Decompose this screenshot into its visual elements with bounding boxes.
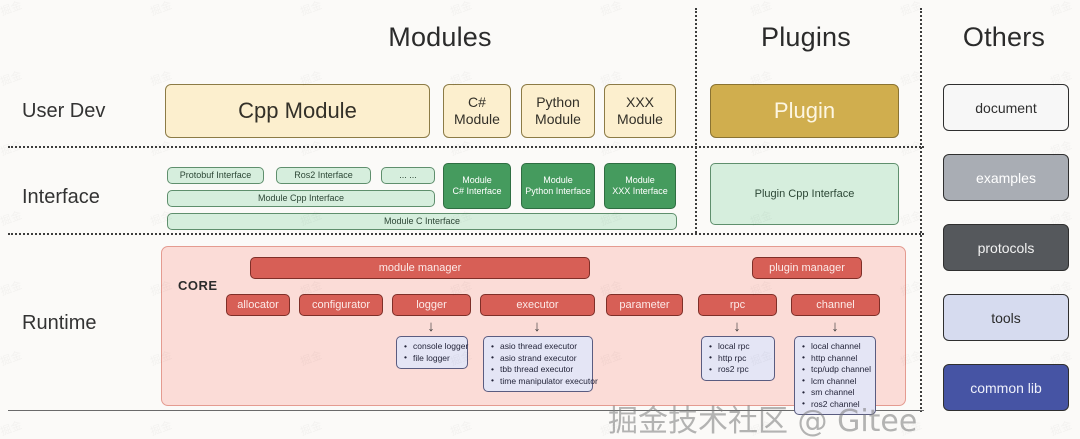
watermark-tile: 掘金 bbox=[0, 0, 24, 19]
watermark-tile: 掘金 bbox=[0, 137, 24, 160]
watermark-tile: 掘金 bbox=[148, 417, 174, 439]
box-parameter: parameter bbox=[606, 294, 683, 316]
detail-list-rpc: local rpchttp rpcros2 rpc bbox=[701, 336, 775, 381]
detail-list-item: tcp/udp channel bbox=[811, 364, 869, 376]
watermark-tile: 掘金 bbox=[448, 0, 474, 19]
detail-list-item: tbb thread executor bbox=[500, 364, 586, 376]
box-document: document bbox=[943, 84, 1069, 131]
detail-list-item: asio strand executor bbox=[500, 353, 586, 365]
box-module-manager: module manager bbox=[250, 257, 590, 279]
watermark-tile: 掘金 bbox=[448, 417, 474, 439]
watermark-tile: 掘金 bbox=[298, 137, 324, 160]
arrow-down-icon-rpc: ↓ bbox=[730, 318, 744, 336]
box-ros2-interface: Ros2 Interface bbox=[276, 167, 371, 184]
detail-list-channel: local channelhttp channeltcp/udp channel… bbox=[794, 336, 876, 415]
watermark-tile: 掘金 bbox=[148, 0, 174, 19]
detail-list-item: http channel bbox=[811, 353, 869, 365]
watermark-tile: 掘金 bbox=[0, 277, 24, 300]
row-label-interface: Interface bbox=[22, 186, 100, 209]
box-rpc: rpc bbox=[698, 294, 777, 316]
watermark-tile: 掘金 bbox=[0, 207, 24, 230]
watermark-tile: 掘金 bbox=[1048, 417, 1074, 439]
box-module-python-interface: Module Python Interface bbox=[521, 163, 595, 209]
detail-list-logger: console loggerfile logger bbox=[396, 336, 468, 369]
box-module-c-interface: Module C Interface bbox=[167, 213, 677, 230]
detail-list-item: local rpc bbox=[718, 341, 768, 353]
detail-list-item: lcm channel bbox=[811, 376, 869, 388]
core-label: CORE bbox=[178, 278, 218, 293]
detail-list-item: ros2 channel bbox=[811, 399, 869, 411]
box-python-module: Python Module bbox=[521, 84, 595, 138]
watermark-tile: 掘金 bbox=[898, 417, 924, 439]
watermark-tile: 掘金 bbox=[598, 137, 624, 160]
detail-list-executor: asio thread executorasio strand executor… bbox=[483, 336, 593, 392]
detail-list-item: local channel bbox=[811, 341, 869, 353]
box-common-lib: common lib bbox=[943, 364, 1069, 411]
watermark-tile: 掘金 bbox=[148, 137, 174, 160]
detail-list-item: sm channel bbox=[811, 387, 869, 399]
arrow-down-icon-channel: ↓ bbox=[828, 318, 842, 336]
architecture-diagram: Modules Plugins Others User Dev Interfac… bbox=[0, 0, 1080, 439]
row-label-runtime: Runtime bbox=[22, 312, 96, 335]
detail-list-item: console logger bbox=[413, 341, 461, 353]
detail-list-item: http rpc bbox=[718, 353, 768, 365]
detail-list-item: file logger bbox=[413, 353, 461, 365]
box-plugin-manager: plugin manager bbox=[752, 257, 862, 279]
box-plugin: Plugin bbox=[710, 84, 899, 138]
watermark-tile: 掘金 bbox=[748, 137, 774, 160]
row-label-user-dev: User Dev bbox=[22, 100, 105, 123]
watermark-tile: 掘金 bbox=[298, 417, 324, 439]
box-module-xxx-interface: Module XXX Interface bbox=[604, 163, 676, 209]
divider-plugins-others bbox=[920, 8, 922, 412]
column-title-plugins: Plugins bbox=[700, 22, 912, 53]
box-protocols: protocols bbox=[943, 224, 1069, 271]
box-csharp-module: C# Module bbox=[443, 84, 511, 138]
detail-list-item: time manipulator executor bbox=[500, 376, 586, 388]
box-channel: channel bbox=[791, 294, 880, 316]
column-title-modules: Modules bbox=[300, 22, 580, 53]
divider-interface-runtime bbox=[8, 233, 924, 235]
watermark-tile: 掘金 bbox=[0, 417, 24, 439]
watermark-tile: 掘金 bbox=[598, 0, 624, 19]
detail-list-item: asio thread executor bbox=[500, 341, 586, 353]
box-module-csharp-interface: Module C# Interface bbox=[443, 163, 511, 209]
box-protobuf-interface: Protobuf Interface bbox=[167, 167, 264, 184]
divider-user-dev-interface bbox=[8, 146, 924, 148]
box-executor: executor bbox=[480, 294, 595, 316]
watermark-tile: 掘金 bbox=[748, 0, 774, 19]
box-tools: tools bbox=[943, 294, 1069, 341]
watermark-tile: 掘金 bbox=[598, 417, 624, 439]
box-xxx-module: XXX Module bbox=[604, 84, 676, 138]
watermark-tile: 掘金 bbox=[0, 347, 24, 370]
box-cpp-module: Cpp Module bbox=[165, 84, 430, 138]
box-logger: logger bbox=[392, 294, 471, 316]
divider-modules-plugins bbox=[695, 8, 697, 233]
watermark-tile: 掘金 bbox=[748, 417, 774, 439]
watermark-tile: 掘金 bbox=[1048, 0, 1074, 19]
box-module-cpp-interface: Module Cpp Interface bbox=[167, 190, 435, 207]
arrow-down-icon-executor: ↓ bbox=[530, 318, 544, 336]
watermark-tile: 掘金 bbox=[448, 137, 474, 160]
box-more-interfaces: ... ... bbox=[381, 167, 435, 184]
column-title-others: Others bbox=[930, 22, 1078, 53]
box-configurator: configurator bbox=[299, 294, 383, 316]
detail-list-item: ros2 rpc bbox=[718, 364, 768, 376]
baseline-rule bbox=[8, 410, 924, 411]
arrow-down-icon-logger: ↓ bbox=[424, 318, 438, 336]
box-plugin-cpp-interface: Plugin Cpp Interface bbox=[710, 163, 899, 225]
box-examples: examples bbox=[943, 154, 1069, 201]
box-allocator: allocator bbox=[226, 294, 290, 316]
watermark-tile: 掘金 bbox=[0, 67, 24, 90]
watermark-tile: 掘金 bbox=[298, 0, 324, 19]
